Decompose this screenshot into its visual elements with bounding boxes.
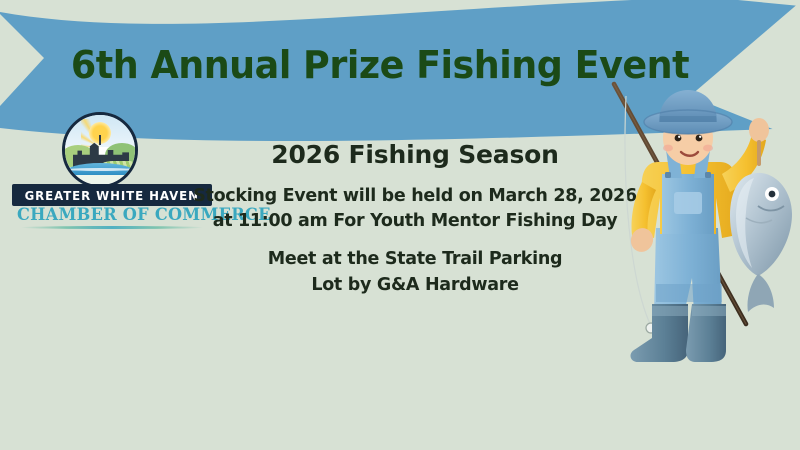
detail-line-1: Stocking Event will be held on March 28,… (190, 184, 640, 209)
flyer-canvas: 6th Annual Prize Fishing Event GREATER W… (0, 0, 800, 450)
overalls-legs (654, 228, 722, 314)
season-heading: 2026 Fishing Season (190, 140, 640, 170)
event-details: Stocking Event will be held on March 28,… (190, 184, 640, 235)
logo-org-line-2: CHAMBER OF COMMERCE (17, 205, 207, 225)
crest-spire (99, 135, 101, 145)
crest-wave (65, 168, 135, 171)
logo-org-band: GREATER WHITE HAVEN (12, 184, 212, 206)
meet-line-2: Lot by G&A Hardware (190, 273, 640, 298)
bucket-hat-icon (644, 90, 732, 134)
chamber-logo: GREATER WHITE HAVEN CHAMBER OF COMMERCE (12, 112, 212, 222)
town-crest-icon (62, 112, 138, 188)
logo-org-line-1: GREATER WHITE HAVEN (25, 188, 199, 203)
boy-fisherman-illustration (596, 78, 800, 368)
detail-line-2: at 11:00 am For Youth Mentor Fishing Day (190, 209, 640, 234)
event-copy: 2026 Fishing Season Stocking Event will … (190, 140, 640, 298)
meet-line-1: Meet at the State Trail Parking (190, 247, 640, 272)
meeting-location: Meet at the State Trail Parking Lot by G… (190, 247, 640, 298)
logo-underline (20, 226, 204, 229)
rubber-boots-icon (631, 304, 726, 362)
